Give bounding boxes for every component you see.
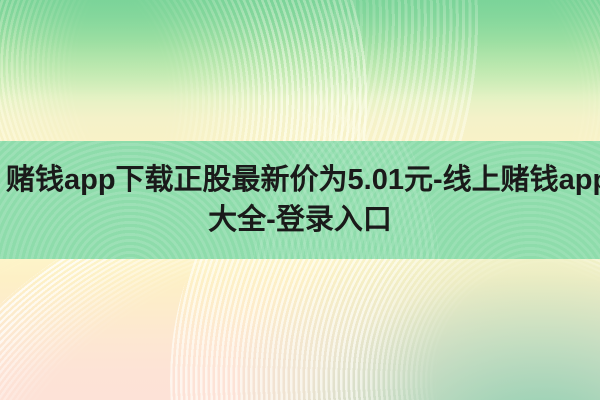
promo-banner: 赌钱app下载正股最新价为5.01元-线上赌钱app 大全-登录入口 — [0, 0, 600, 400]
page-title-line-1: 赌钱app下载正股最新价为5.01元-线上赌钱app — [6, 160, 594, 200]
top-gradient-band — [0, 0, 600, 141]
arc-fan-icon-top-right — [0, 0, 600, 141]
page-title-line-2: 大全-登录入口 — [6, 200, 594, 240]
bottom-gradient-band — [0, 259, 600, 400]
arc-fan-icon-bottom-right — [170, 259, 600, 400]
page-title: 赌钱app下载正股最新价为5.01元-线上赌钱app 大全-登录入口 — [0, 160, 600, 240]
title-band: 赌钱app下载正股最新价为5.01元-线上赌钱app 大全-登录入口 — [0, 141, 600, 259]
